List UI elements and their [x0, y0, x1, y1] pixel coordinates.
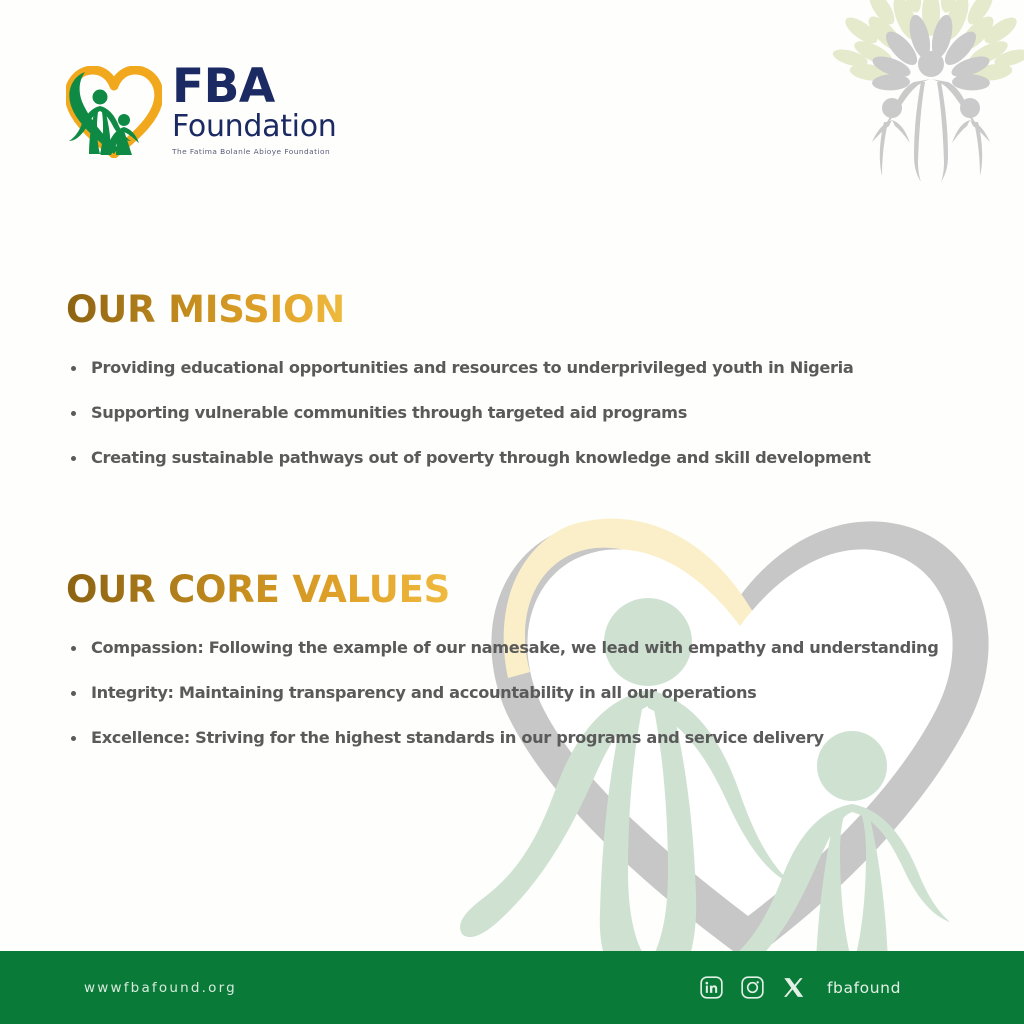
linkedin-icon[interactable] — [700, 976, 723, 999]
section-mission: OUR MISSION Providing educational opport… — [66, 288, 966, 492]
website-url[interactable]: wwwfbafound.org — [84, 980, 237, 996]
social-handle[interactable]: fbafound — [827, 979, 901, 997]
list-item: Supporting vulnerable communities throug… — [66, 402, 966, 424]
brand-name-primary: FBA — [172, 64, 402, 110]
list-item: Integrity: Maintaining transparency and … — [66, 682, 966, 704]
brand-logo[interactable]: FBA Foundation The Fatima Bolanle Abioye… — [66, 62, 336, 170]
brand-tagline: The Fatima Bolanle Abioye Foundation — [172, 147, 402, 156]
x-twitter-icon[interactable] — [782, 976, 805, 999]
core-values-heading: OUR CORE VALUES — [66, 568, 450, 611]
social-links: fbafound — [700, 976, 901, 999]
section-core-values: OUR CORE VALUES Compassion: Following th… — [66, 568, 966, 772]
list-item: Compassion: Following the example of our… — [66, 637, 966, 659]
tree-of-people-watermark — [826, 0, 1024, 191]
heart-people-logo-icon — [66, 66, 162, 158]
footer-bar: wwwfbafound.org fbafound — [0, 951, 1024, 1024]
core-values-bullet-list: Compassion: Following the example of our… — [66, 637, 966, 749]
list-item: Excellence: Striving for the highest sta… — [66, 727, 966, 749]
list-item: Providing educational opportunities and … — [66, 357, 966, 379]
list-item: Creating sustainable pathways out of pov… — [66, 447, 966, 469]
poster-canvas: FBA Foundation The Fatima Bolanle Abioye… — [0, 0, 1024, 1024]
mission-heading: OUR MISSION — [66, 288, 345, 331]
brand-wordmark: FBA Foundation The Fatima Bolanle Abioye… — [172, 62, 402, 156]
brand-name-secondary: Foundation — [172, 110, 402, 144]
mission-bullet-list: Providing educational opportunities and … — [66, 357, 966, 469]
instagram-icon[interactable] — [741, 976, 764, 999]
